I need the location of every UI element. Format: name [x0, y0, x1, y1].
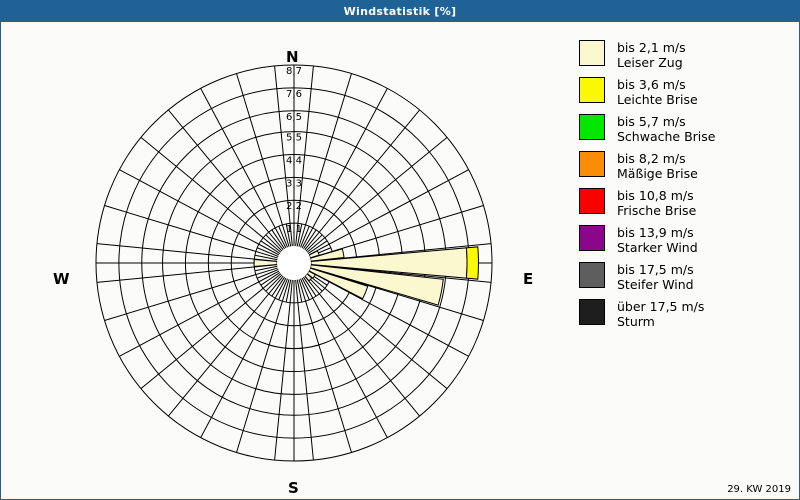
date-stamp: 29. KW 2019 [727, 484, 791, 495]
legend-item-text: bis 3,6 m/sLeichte Brise [617, 77, 698, 107]
legend-item-name: Frische Brise [617, 203, 696, 218]
legend-color-swatch [579, 40, 605, 66]
ring-value-label: 5,5 [286, 133, 302, 144]
wind-rose-svg: 1,12,23,34,45,56,57,68,7 [1, 22, 561, 499]
grid-spoke [299, 74, 352, 247]
window-title: Windstatistik [%] [344, 5, 457, 18]
legend-item-text: bis 13,9 m/sStarker Wind [617, 225, 698, 255]
compass-label-north: N [286, 48, 299, 66]
ring-value-label: 3,3 [286, 178, 302, 189]
legend-item-text: bis 10,8 m/sFrische Brise [617, 188, 696, 218]
legend-item: bis 3,6 m/sLeichte Brise [579, 77, 794, 107]
legend-item-name: Leichte Brise [617, 92, 698, 107]
legend-item-name: Starker Wind [617, 240, 698, 255]
grid-spoke [105, 268, 278, 321]
center-hub [277, 246, 311, 280]
legend-item-speed: bis 5,7 m/s [617, 114, 715, 129]
grid-spoke [237, 279, 290, 452]
ring-value-label: 4,4 [286, 155, 302, 166]
legend-item: über 17,5 m/sSturm [579, 299, 794, 329]
grid-spoke [105, 206, 278, 259]
grid-spoke [168, 110, 283, 250]
wind-rose-chart: 1,12,23,34,45,56,57,68,7 N S W E [1, 22, 561, 499]
legend-item-speed: bis 3,6 m/s [617, 77, 698, 92]
legend-color-swatch [579, 77, 605, 103]
legend-item-name: Sturm [617, 314, 704, 329]
legend-item: bis 5,7 m/sSchwache Brise [579, 114, 794, 144]
legend-item: bis 10,8 m/sFrische Brise [579, 188, 794, 218]
legend-item-speed: bis 17,5 m/s [617, 262, 694, 277]
legend-item-text: bis 8,2 m/sMäßige Brise [617, 151, 698, 181]
ring-value-label: 1,1 [286, 224, 302, 235]
legend-color-swatch [579, 114, 605, 140]
wind-petal [466, 247, 478, 279]
legend-item-speed: bis 2,1 m/s [617, 40, 686, 55]
ring-value-label: 2,2 [286, 201, 302, 212]
legend-item-text: über 17,5 m/sSturm [617, 299, 704, 329]
grid-spoke [141, 274, 281, 389]
grid-spoke [307, 137, 447, 252]
legend-item: bis 17,5 m/sSteifer Wind [579, 262, 794, 292]
legend-color-swatch [579, 188, 605, 214]
ring-value-label: 6,5 [286, 112, 302, 123]
legend-item-text: bis 5,7 m/sSchwache Brise [617, 114, 715, 144]
grid-spoke [237, 74, 290, 247]
grid-spoke [168, 276, 283, 416]
legend-item: bis 13,9 m/sStarker Wind [579, 225, 794, 255]
legend-item-name: Leiser Zug [617, 55, 686, 70]
legend-color-swatch [579, 225, 605, 251]
window-content: 1,12,23,34,45,56,57,68,7 N S W E bis 2,1… [1, 22, 799, 499]
legend-item-speed: bis 13,9 m/s [617, 225, 698, 240]
legend-item: bis 8,2 m/sMäßige Brise [579, 151, 794, 181]
legend-item: bis 2,1 m/sLeiser Zug [579, 40, 794, 70]
grid-spoke [305, 110, 420, 250]
legend-item-name: Mäßige Brise [617, 166, 698, 181]
grid-spoke [141, 137, 281, 252]
legend-item-name: Steifer Wind [617, 277, 694, 292]
legend-item-name: Schwache Brise [617, 129, 715, 144]
legend-item-speed: bis 10,8 m/s [617, 188, 696, 203]
legend: bis 2,1 m/sLeiser Zugbis 3,6 m/sLeichte … [579, 40, 794, 336]
ring-value-label: 8,7 [286, 66, 302, 77]
legend-item-text: bis 17,5 m/sSteifer Wind [617, 262, 694, 292]
legend-color-swatch [579, 262, 605, 288]
legend-color-swatch [579, 299, 605, 325]
compass-label-east: E [523, 270, 533, 288]
legend-item-speed: über 17,5 m/s [617, 299, 704, 314]
compass-label-south: S [288, 479, 299, 497]
grid-spoke [299, 279, 352, 452]
legend-item-text: bis 2,1 m/sLeiser Zug [617, 40, 686, 70]
window-title-bar: Windstatistik [%] [1, 1, 799, 22]
ring-value-label: 7,6 [286, 89, 302, 100]
compass-label-west: W [53, 270, 70, 288]
wind-rose-window: Windstatistik [%] 1,12,23,34,45,56,57,68… [0, 0, 800, 500]
legend-item-speed: bis 8,2 m/s [617, 151, 698, 166]
legend-color-swatch [579, 151, 605, 177]
